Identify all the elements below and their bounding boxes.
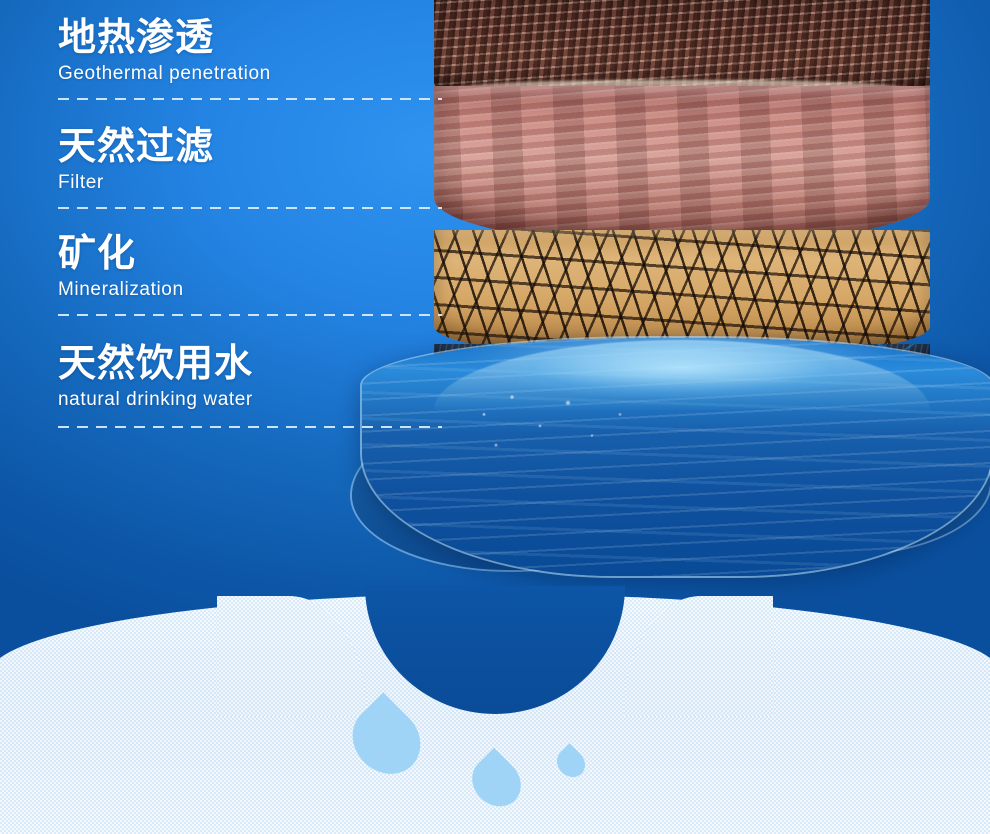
process-step-1: 地热渗透 Geothermal penetration xyxy=(58,16,442,86)
step-divider-4 xyxy=(58,426,442,428)
process-step-4: 天然饮用水 natural drinking water xyxy=(58,342,442,412)
step-divider-2 xyxy=(58,207,442,209)
process-step-2: 天然过滤 Filter xyxy=(58,125,442,195)
step-title-en: Geothermal penetration xyxy=(58,62,442,86)
step-title-en: natural drinking water xyxy=(58,388,442,412)
step-title-cn: 矿化 xyxy=(58,232,442,276)
step-title-en: Filter xyxy=(58,171,442,195)
infographic-canvas: 地热渗透 Geothermal penetration 天然过滤 Filter … xyxy=(0,0,990,834)
pink-sandstone-layer xyxy=(434,86,930,246)
process-step-3: 矿化 Mineralization xyxy=(58,232,442,302)
step-divider-3 xyxy=(58,314,442,316)
water-splash-droplets xyxy=(452,376,652,472)
step-title-cn: 地热渗透 xyxy=(58,16,442,60)
step-title-en: Mineralization xyxy=(58,278,442,302)
step-divider-1 xyxy=(58,98,442,100)
step-title-cn: 天然过滤 xyxy=(58,125,442,169)
geological-strata-column xyxy=(434,0,930,389)
step-title-cn: 天然饮用水 xyxy=(58,342,442,386)
